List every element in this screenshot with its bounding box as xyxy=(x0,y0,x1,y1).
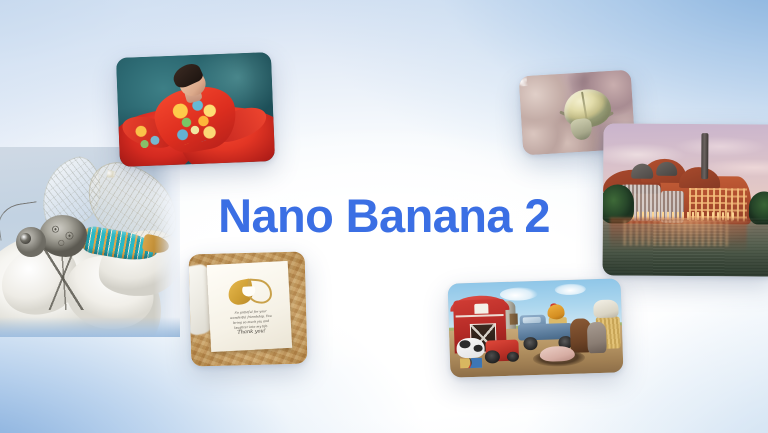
card-farmyard-scene[interactable] xyxy=(448,278,624,377)
goat xyxy=(593,299,618,319)
truck-wheel xyxy=(524,337,538,350)
card-thank-you-note[interactable]: So grateful for your wonderful friendshi… xyxy=(189,252,308,367)
pickup-truck-window xyxy=(523,317,540,324)
hands-heart-illustration xyxy=(227,278,272,306)
farm-scene xyxy=(448,278,624,377)
note-paper: So grateful for your wonderful friendshi… xyxy=(206,261,292,352)
hero-canvas: So grateful for your wonderful friendshi… xyxy=(0,0,768,433)
fence-post xyxy=(509,314,518,326)
smokestack xyxy=(701,133,708,179)
thank-you-signoff: Thank you! xyxy=(228,328,275,336)
barn-hayloft-window xyxy=(474,303,488,314)
cow-spot xyxy=(460,340,471,348)
thank-you-message: So grateful for your wonderful friendshi… xyxy=(227,309,275,331)
thankyou-scene: So grateful for your wonderful friendshi… xyxy=(189,252,308,367)
floral-embroidery-bodice xyxy=(168,97,224,147)
page-title: Nano Banana 2 xyxy=(0,188,768,244)
donkey xyxy=(587,322,607,354)
card-woman-in-red-dress[interactable] xyxy=(116,52,275,167)
dancer-scene xyxy=(116,52,275,167)
rooster xyxy=(547,305,565,320)
dragonfly-bottom-fade xyxy=(0,317,180,337)
cow-spot xyxy=(474,345,483,352)
